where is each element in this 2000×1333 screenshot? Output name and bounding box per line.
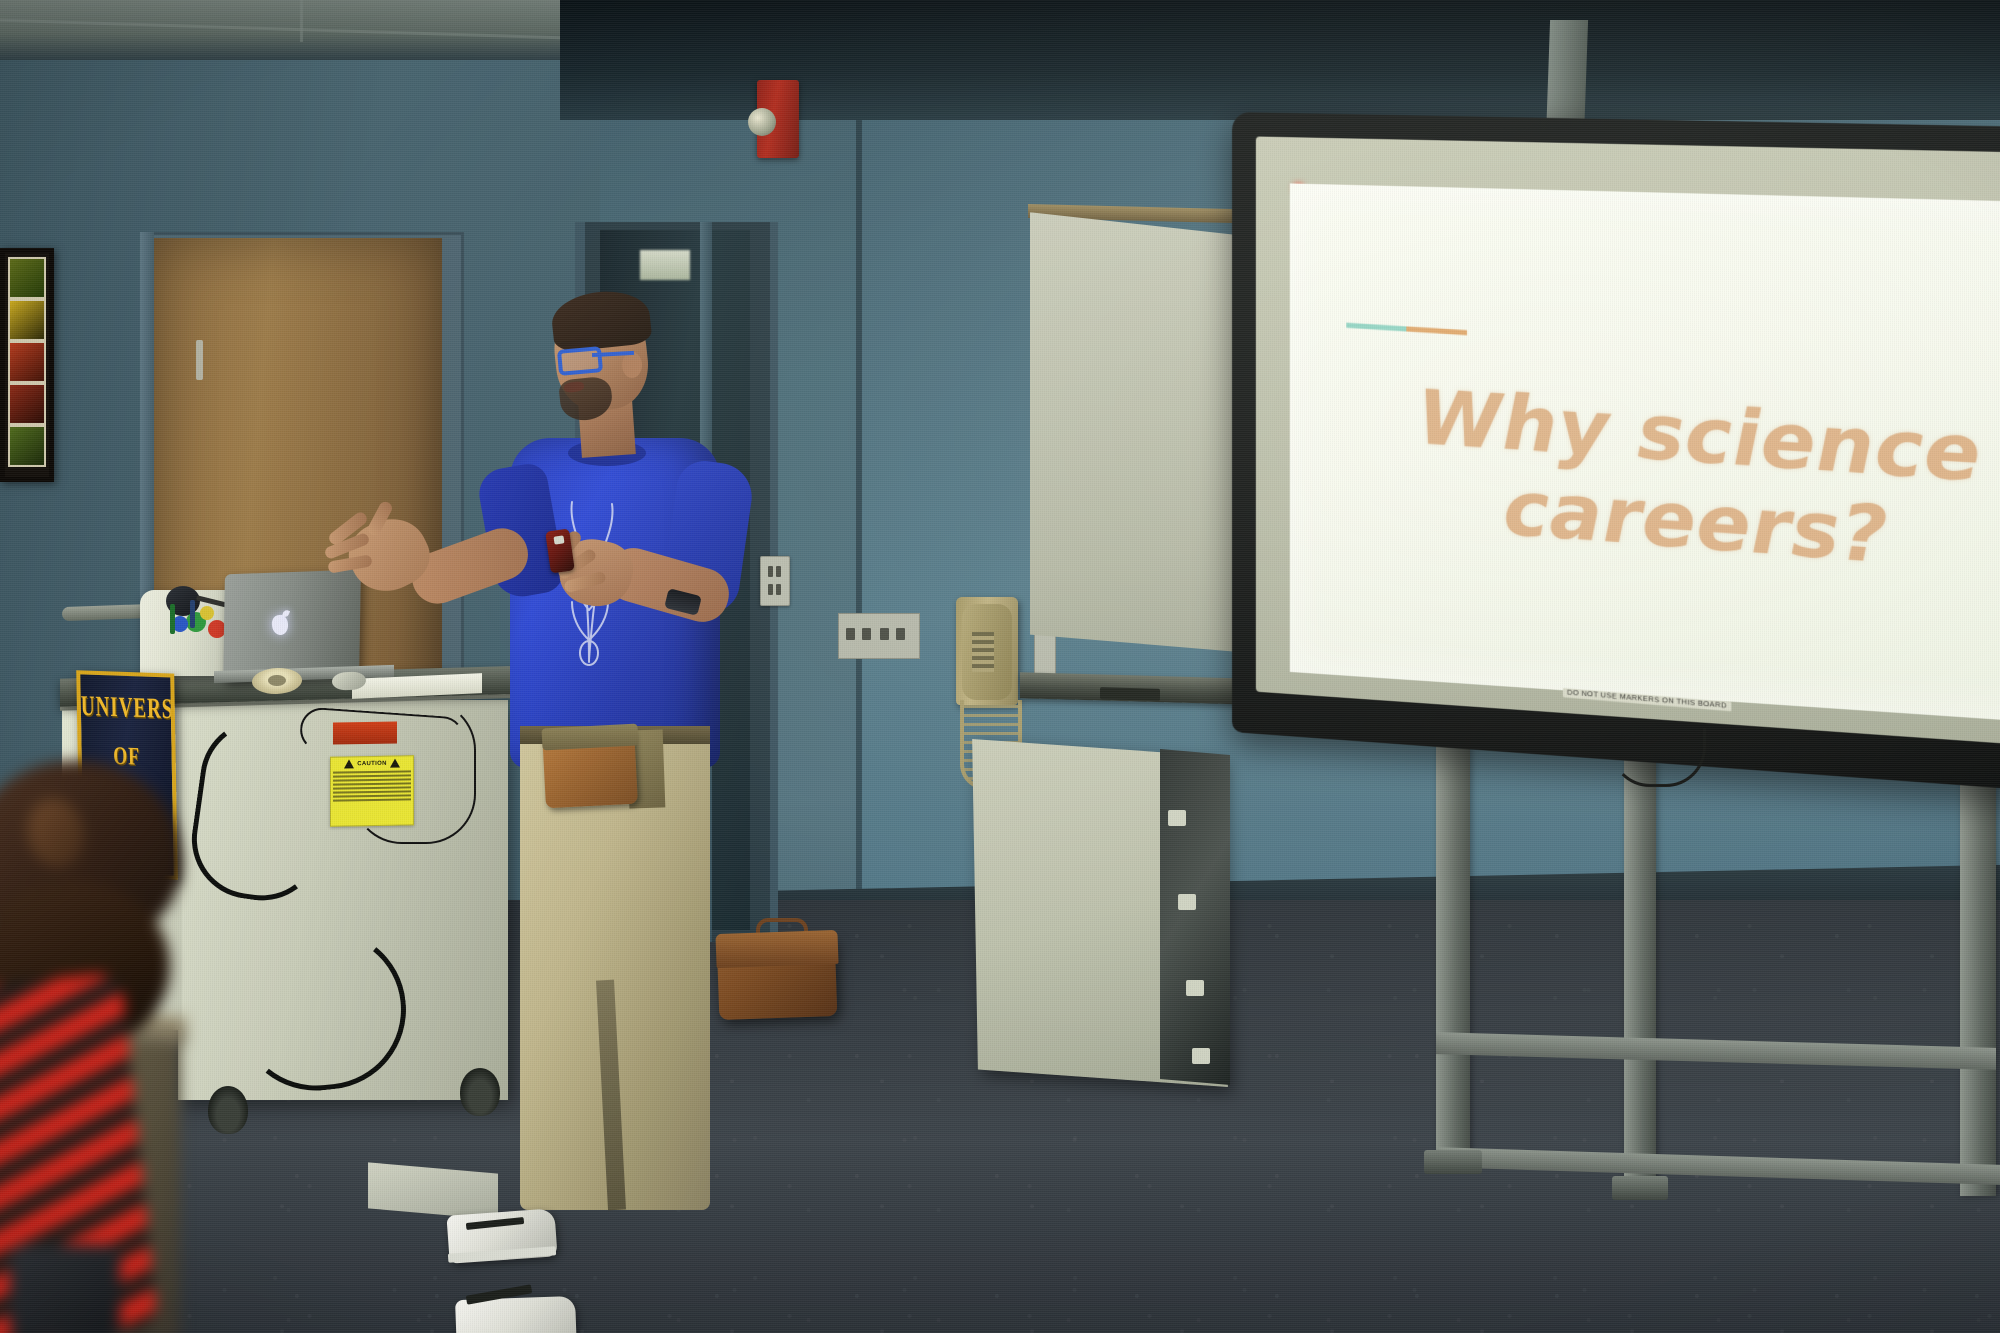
presenter-person <box>370 290 770 1333</box>
jack-port <box>862 628 871 640</box>
slide-content: Why science careers? <box>1290 183 2000 723</box>
eyeglasses-icon <box>557 346 603 376</box>
stand-leg-left <box>1436 736 1470 1156</box>
classroom-photo-scene: Why science careers? DO NOT USE MARKERS … <box>0 0 2000 1333</box>
jack-port <box>880 628 889 640</box>
stand-leg-mid <box>1624 744 1656 1184</box>
folded-table-hinge <box>1186 980 1204 996</box>
clicker-button[interactable] <box>553 535 564 544</box>
toy-ball-yellow <box>200 606 214 620</box>
whiteboard-eraser[interactable] <box>1100 687 1160 701</box>
jack-port <box>846 628 855 640</box>
tape-roll-core <box>268 675 286 686</box>
jack-port <box>896 628 905 640</box>
door-hardware[interactable] <box>196 340 203 380</box>
toy-rod <box>190 600 195 628</box>
stand-foot-mid <box>1612 1176 1668 1200</box>
telephone-keypad[interactable] <box>972 632 994 672</box>
ceiling-grid-line <box>300 0 303 42</box>
slide-title: Why science careers? <box>1290 365 2000 598</box>
stand-leg-right <box>1960 746 1996 1196</box>
audience-bag <box>10 1245 120 1333</box>
av-cart-caster-wheel <box>208 1086 248 1134</box>
stand-foot-left <box>1424 1150 1482 1174</box>
folded-table-hinge <box>1192 1048 1210 1064</box>
smartboard-inner-surface: Why science careers? DO NOT USE MARKERS … <box>1256 136 2000 747</box>
projected-slide: Why science careers? <box>1290 183 2000 723</box>
folded-table-hinge <box>1178 894 1196 910</box>
folded-table-leg-frame <box>1160 749 1230 1085</box>
outlet-slot <box>776 566 781 577</box>
banner-line-1: UNIVERSITY <box>81 691 172 727</box>
outlet-slot <box>776 584 781 595</box>
folded-table-hinge <box>1168 810 1186 826</box>
doorway-light-glare <box>640 250 690 280</box>
fire-alarm-lens-icon <box>748 108 776 136</box>
toy-rod <box>170 604 175 634</box>
presenter-ear <box>622 352 642 378</box>
smartboard-projection-display[interactable]: Why science careers? DO NOT USE MARKERS … <box>1232 112 2000 793</box>
framed-poster <box>0 248 54 482</box>
macbook-laptop[interactable] <box>223 570 361 683</box>
